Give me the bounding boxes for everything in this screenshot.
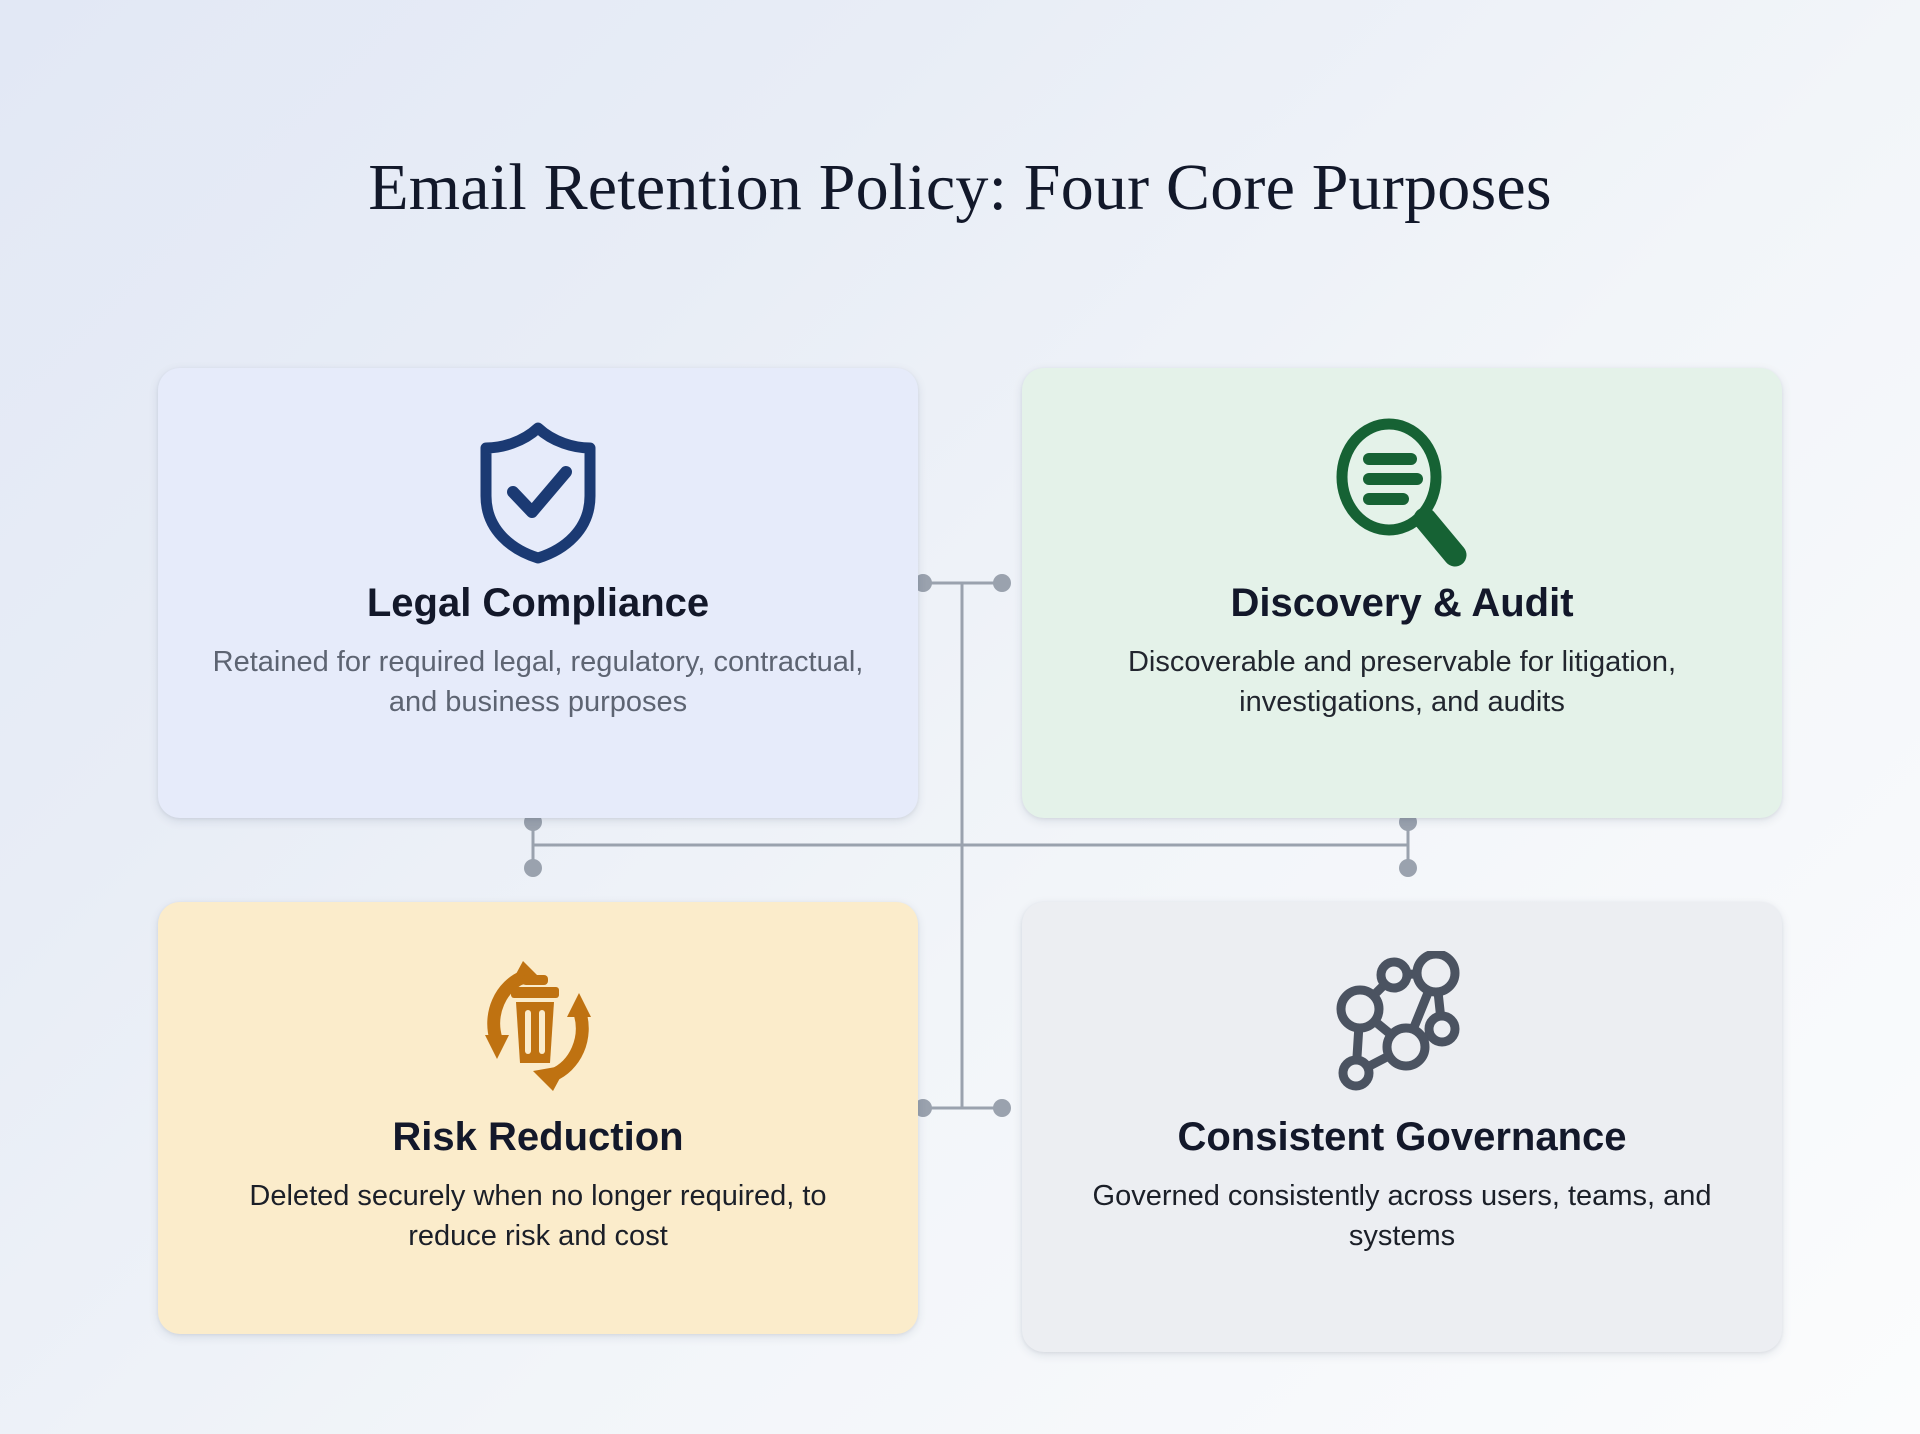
card-consistent-governance[interactable]: Consistent Governance Governed consisten… <box>1022 902 1782 1352</box>
connector-node-mid-right-bot <box>1399 859 1417 877</box>
card-legal-compliance[interactable]: Legal Compliance Retained for required l… <box>158 368 918 818</box>
shield-check-icon <box>468 412 608 572</box>
card-discovery-audit[interactable]: Discovery & Audit Discoverable and prese… <box>1022 368 1782 818</box>
card-description: Governed consistently across users, team… <box>1072 1176 1732 1256</box>
connector-node-mid-left-bot <box>524 859 542 877</box>
card-heading: Discovery & Audit <box>1230 580 1573 626</box>
page-title: Email Retention Policy: Four Core Purpos… <box>0 150 1920 226</box>
card-heading: Risk Reduction <box>392 1114 683 1160</box>
connector-node-bottom-right <box>993 1099 1011 1117</box>
card-description: Deleted securely when no longer required… <box>208 1176 868 1256</box>
card-description: Discoverable and preservable for litigat… <box>1072 642 1732 722</box>
card-risk-reduction[interactable]: Risk Reduction Deleted securely when no … <box>158 902 918 1334</box>
card-heading: Legal Compliance <box>367 580 709 626</box>
network-nodes-icon <box>1332 946 1472 1106</box>
card-description: Retained for required legal, regulatory,… <box>208 642 868 722</box>
connector-node-top-right <box>993 574 1011 592</box>
card-heading: Consistent Governance <box>1177 1114 1626 1160</box>
magnifier-document-icon <box>1327 412 1477 572</box>
recycle-trash-icon <box>463 946 613 1106</box>
